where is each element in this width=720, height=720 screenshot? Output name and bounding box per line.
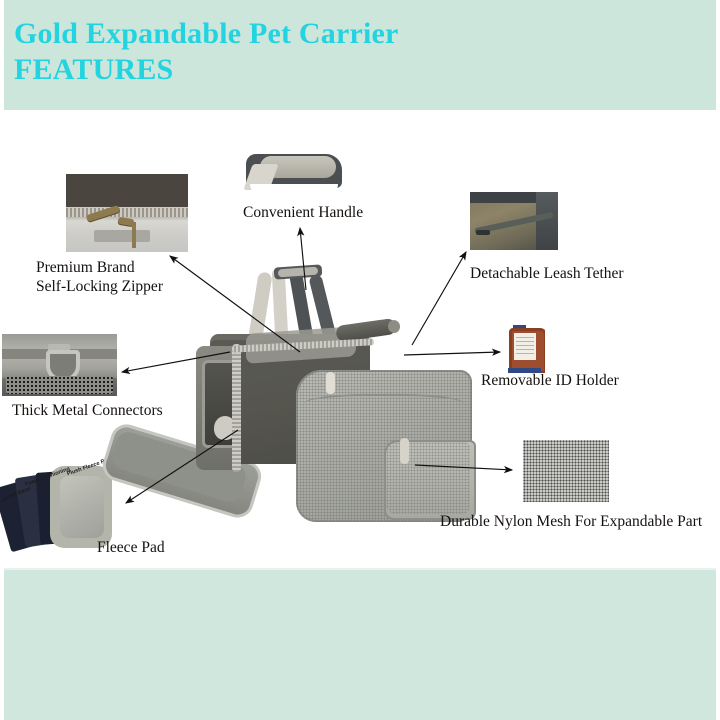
carrier-pocket-zipper-tab [400, 438, 409, 464]
inset-mesh-swatch [523, 440, 609, 502]
carrier-mesh-pocket-texture [386, 442, 470, 514]
page-title-line-2: FEATURES [14, 52, 399, 88]
label-durable-nylon-mesh: Durable Nylon Mesh For Expandable Part [440, 512, 702, 531]
label-premium-brand-self-locking-zipper: Premium Brand Self-Locking Zipper [36, 258, 216, 296]
label-detachable-leash-tether: Detachable Leash Tether [470, 264, 624, 283]
id-holder-card-lines [516, 337, 534, 356]
footer-banner [4, 568, 716, 720]
carrier-vertical-zipper [232, 344, 241, 472]
infographic-canvas: Gold Expandable Pet Carrier FEATURES [0, 0, 720, 720]
inset-zipper-closeup [66, 174, 188, 252]
tether-side-panel [536, 192, 558, 250]
zipper-shadow [94, 230, 150, 242]
product-illustration [188, 268, 488, 532]
label-fleece-pad: Fleece Pad [97, 538, 165, 557]
label-convenient-handle: Convenient Handle [243, 203, 363, 222]
page-title-line-1: Gold Expandable Pet Carrier [14, 16, 399, 52]
inset-connector-closeup [2, 334, 117, 396]
label-thick-metal-connectors: Thick Metal Connectors [12, 401, 163, 420]
inset-id-holder [505, 325, 545, 373]
label-zipper-line-1: Premium Brand [36, 259, 135, 276]
zipper-tab [132, 222, 136, 248]
label-removable-id-holder: Removable ID Holder [481, 371, 619, 390]
inset-tether-closeup [470, 192, 558, 250]
tether-clip [476, 230, 490, 235]
inset-handle-closeup [244, 148, 344, 200]
label-zipper-line-2: Self-Locking Zipper [36, 278, 163, 295]
carrier-expansion-seam [304, 394, 464, 418]
zipper-track [66, 208, 188, 217]
carrier-panel-zipper-tab [326, 372, 335, 394]
connector-mesh-panel [6, 376, 113, 394]
handle-base-cut [250, 184, 338, 196]
title-block: Gold Expandable Pet Carrier FEATURES [14, 16, 399, 88]
fleece-pad-inner [60, 476, 104, 538]
